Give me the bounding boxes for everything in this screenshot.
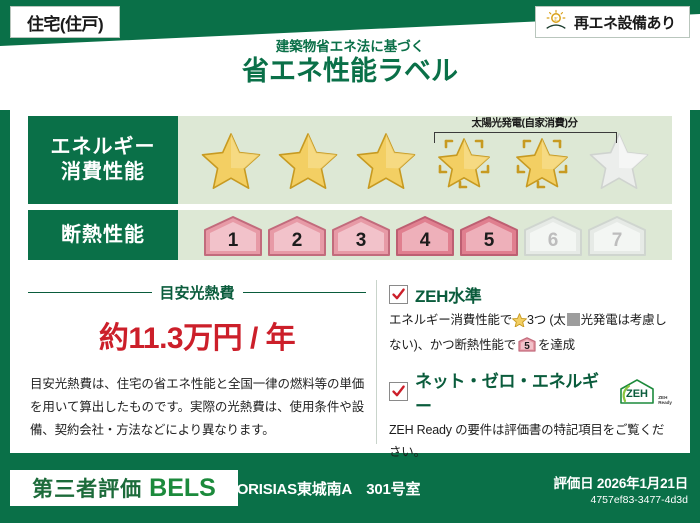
energy-stars-panel: 太陽光発電(自家消費)分 [178,116,672,204]
energy-performance-label: 住宅(住戸) E 再エネ設備あり 建築物省エネ法に基づく 省エネ性能ラベル [0,0,700,523]
zeh-body-part4: を達成 [538,338,575,352]
star-6-empty [586,127,652,193]
heading-rule-right [243,292,367,294]
utility-cost-note: 目安光熱費は、住宅の省エネ性能と全国一律の燃料等の単価を用いて算出したものです。… [28,373,366,442]
zeh-logo-line1: ZEH [658,395,667,400]
svg-text:E: E [554,17,558,23]
zeh-standard-title: ZEH水準 [415,282,482,307]
title-subtitle: 建築物省エネ法に基づく [0,40,700,55]
star-4-solar [431,127,497,193]
bels-en-label: BELS [149,474,216,503]
evaluation-date: 評価日 2026年1月21日 [553,472,688,492]
insulation-house-1: 1 [202,215,264,255]
evaluation-info: 評価日 2026年1月21日 4757ef83-3477-4d3d [553,472,688,506]
checkbox-checked-icon[interactable] [389,382,408,401]
insulation-house-6: 6 [522,215,584,255]
insulation-level-label: 7 [612,230,623,255]
insulation-house-5: 5 [458,215,520,255]
renewable-equipment-label: 再エネ設備あり [574,12,676,33]
insulation-house-2: 2 [266,215,328,255]
zeh-body-part2: 3つ (太 [527,313,566,327]
star-3 [353,127,419,193]
panel-divider [376,280,377,444]
energy-performance-tag: エネルギー 消費性能 [28,116,178,204]
evaluation-id: 4757ef83-3477-4d3d [553,494,688,506]
utility-cost-value: 約11.3万円 / 年 [28,313,366,357]
net-zero-body: ZEH Ready の要件は評価書の特記項目をご覧ください。 [389,420,672,464]
energy-performance-row: エネルギー 消費性能 [28,116,672,204]
renewable-equipment-badge: E 再エネ設備あり [535,6,690,38]
utility-cost-heading: 目安光熱費 [28,282,366,303]
bels-badge: 第三者評価 BELS [10,470,238,506]
mini-house-level: 5 [518,338,536,356]
net-zero-title-row: ネット・ゼロ・エネルギー ZEH ZEH Ready [389,367,672,417]
building-type-label: 住宅(住戸) [27,10,103,35]
zeh-standard-title-row: ZEH水準 [389,282,672,307]
insulation-level-label: 2 [292,230,303,255]
net-zero-energy-block: ネット・ゼロ・エネルギー ZEH ZEH Ready [389,367,672,464]
insulation-level-label: 1 [228,230,239,255]
insulation-performance-row: 断熱性能 1 [28,210,672,260]
insulation-performance-tag: 断熱性能 [28,210,178,260]
insulation-level-label: 6 [548,230,559,255]
main-card: エネルギー 消費性能 [10,106,690,453]
sun-icon: E [544,8,568,37]
insulation-house-3: 3 [330,215,392,255]
star-icon [512,313,527,335]
insulation-house-7: 7 [586,215,648,255]
certification-panel: ZEH水準 エネルギー消費性能で3つ (太光発電は考慮しない)、かつ断熱性能で5… [389,278,672,446]
net-zero-title: ネット・ゼロ・エネルギー [415,367,606,417]
zeh-standard-block: ZEH水準 エネルギー消費性能で3つ (太光発電は考慮しない)、かつ断熱性能で5… [389,282,672,357]
insulation-level-label: 4 [420,230,431,255]
building-type-tag: 住宅(住戸) [10,6,120,38]
insulation-scale: 1 2 [178,210,672,260]
label-title: 建築物省エネ法に基づく 省エネ性能ラベル [0,40,700,87]
utility-cost-panel: 目安光熱費 約11.3万円 / 年 目安光熱費は、住宅の省エネ性能と全国一律の燃… [28,278,366,446]
mini-house-icon: 5 [518,337,536,352]
label-footer: 第三者評価 BELS TORISIAS東城南A 301号室 評価日 2026年1… [0,461,700,523]
insulation-tag-label: 断熱性能 [61,223,145,247]
insulation-level-label: 3 [356,230,367,255]
checkbox-checked-icon[interactable] [389,285,408,304]
zeh-house-logo-icon: ZEH ZEH Ready [618,378,672,406]
property-name: TORISIAS東城南A 301号室 [228,478,420,499]
title-main: 省エネ性能ラベル [0,56,700,87]
insulation-house-4: 4 [394,215,456,255]
bels-jp-label: 第三者評価 [32,473,142,503]
star-2 [275,127,341,193]
svg-text:ZEH: ZEH [626,388,648,400]
energy-tag-line2: 消費性能 [61,160,145,185]
star-1 [198,127,264,193]
zeh-body-part1: エネルギー消費性能で [389,313,512,327]
star-rating [178,116,672,204]
star-5-solar [509,127,575,193]
insulation-houses-panel: 1 2 [178,210,672,260]
details-section: 目安光熱費 約11.3万円 / 年 目安光熱費は、住宅の省エネ性能と全国一律の燃… [28,278,672,446]
energy-tag-line1: エネルギー [51,135,156,160]
zeh-standard-body: エネルギー消費性能で3つ (太光発電は考慮しない)、かつ断熱性能で5を達成 [389,310,672,357]
heading-rule-left [28,292,152,294]
redacted-char-icon [567,313,580,326]
zeh-ready-logo-text: ZEH Ready [658,395,672,406]
performance-section: エネルギー 消費性能 [28,116,672,266]
insulation-level-label: 5 [484,230,495,255]
zeh-logo-line2: Ready [658,400,672,405]
utility-cost-heading-label: 目安光熱費 [160,282,235,303]
